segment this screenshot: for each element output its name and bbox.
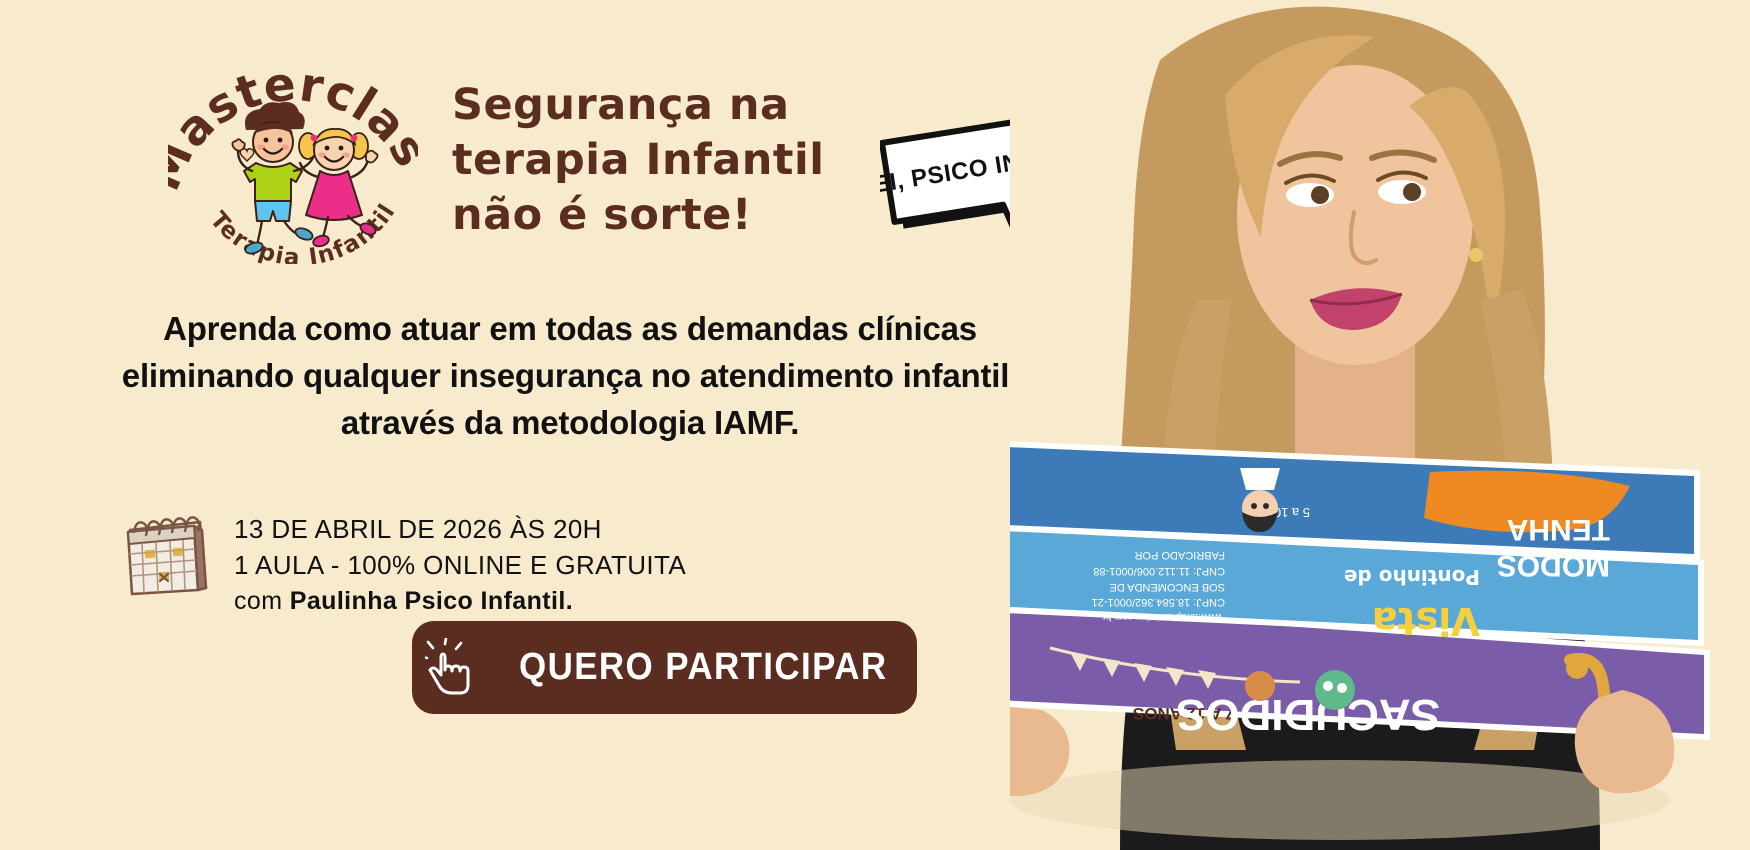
subheadline: Aprenda como atuar em todas as demandas … [0, 305, 1140, 446]
event-format: 1 AULA - 100% ONLINE E GRATUITA [234, 547, 686, 583]
subheadline-line-1: Aprenda como atuar em todas as demandas … [0, 305, 1140, 352]
event-host-prefix: com [234, 587, 290, 615]
box-pontinho-title: Vista [1372, 599, 1480, 643]
event-text-lines: 13 DE ABRIL DE 2026 ÀS 20H 1 AULA - 100%… [234, 505, 686, 619]
headline-line-1: Segurança na [452, 78, 872, 133]
headline-line-2: terapia Infantil [452, 133, 872, 188]
box-smallprint-4: CNPJ: 18.584.362/0001-21 [1092, 596, 1225, 608]
headline-line-3: não é sorte! [452, 188, 872, 243]
box-smallprint-5: www.terapiacriativa.com.br [1102, 611, 1223, 622]
subheadline-line-3: através da metodologia IAMF. [0, 399, 1140, 446]
box-smallprint-3: SOB ENCOMENDA DE [1109, 581, 1225, 593]
box-smallprint-2: CNPJ: 11.112.006/0001-88 [1093, 565, 1225, 577]
event-host: com Paulinha Psico Infantil. [234, 583, 686, 619]
logo-artwork: Masterclass Terapia Infantil [168, 34, 418, 264]
box-pontinho-sub: Pontinho de [1344, 565, 1480, 589]
event-details: 13 DE ABRIL DE 2026 ÀS 20H 1 AULA - 100%… [120, 505, 686, 619]
girl-figure [299, 129, 378, 248]
event-date: 13 DE ABRIL DE 2026 ÀS 20H [234, 511, 686, 547]
subheadline-line-2: eliminando qualquer insegurança no atend… [0, 352, 1140, 399]
click-hand-icon [425, 638, 477, 698]
event-host-name: Paulinha Psico Infantil. [290, 587, 573, 615]
quero-participar-button[interactable]: QUERO PARTICIPAR [412, 621, 917, 714]
masterclass-logo: Masterclass Terapia Infantil [168, 34, 418, 264]
box-sacudidos-title: SACUDIDOS [1176, 690, 1440, 739]
headline: Segurança na terapia Infantil não é sort… [452, 78, 872, 243]
photo-illustration: 7 A 12 ANOS SACUDIDOS FABRICADO POR CNPJ… [1010, 0, 1750, 850]
box-tenha-title-2: MODOS [1497, 549, 1610, 582]
box-smallprint-1: FABRICADO POR [1134, 549, 1225, 561]
cta-label: QUERO PARTICIPAR [519, 646, 887, 689]
box-tenha-title-1: TENHA [1507, 513, 1610, 546]
woman-holding-boxes-photo: 7 A 12 ANOS SACUDIDOS FABRICADO POR CNPJ… [1010, 0, 1750, 850]
calendar-icon [120, 508, 216, 598]
promo-banner: Masterclass Terapia Infantil [0, 0, 1750, 850]
